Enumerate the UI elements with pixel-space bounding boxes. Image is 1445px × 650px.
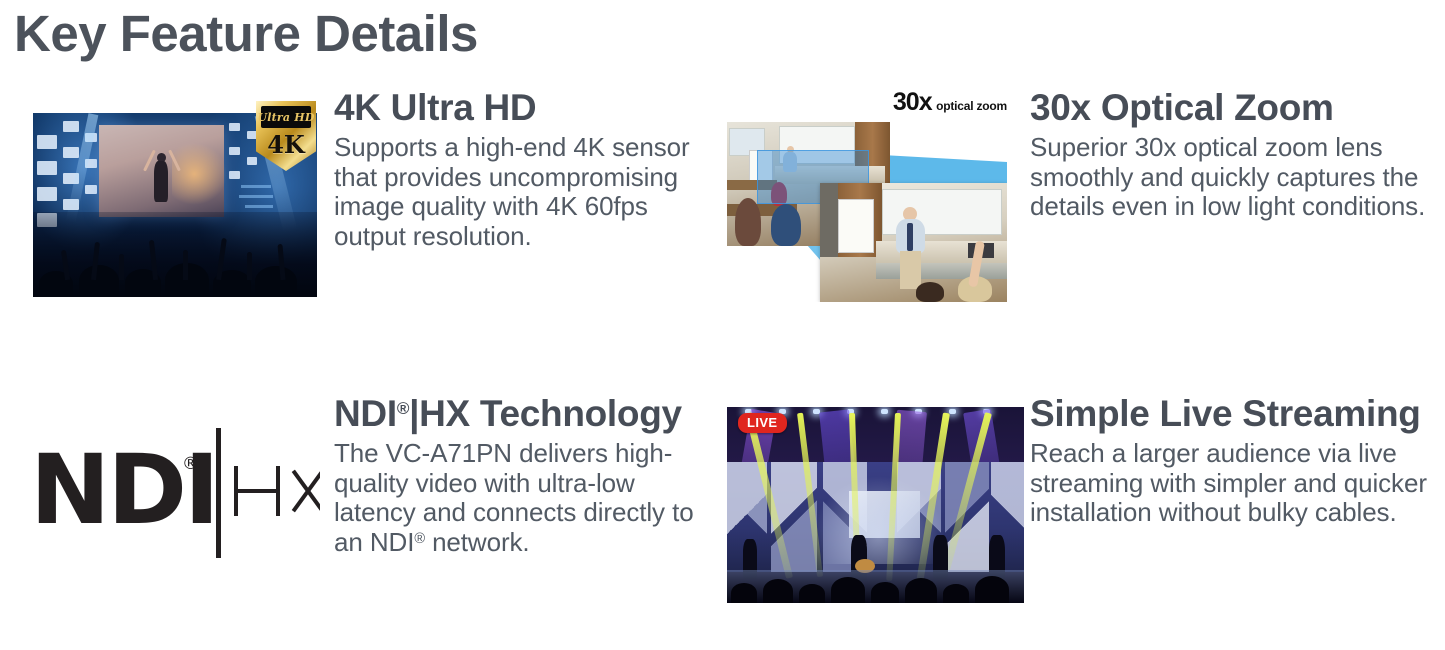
raised-hand	[247, 252, 252, 280]
desk-base	[876, 263, 1007, 279]
feature-body-ndi: The VC-A71PN delivers high-quality video…	[334, 439, 714, 558]
optical-zoom-label-primary: 30x	[893, 88, 932, 116]
feature-text-ndi: NDI®|HX Technology The VC-A71PN delivers…	[334, 394, 714, 558]
led-strip	[241, 185, 271, 188]
audience-head	[943, 584, 969, 603]
raised-hand	[183, 250, 188, 280]
feature-text-4k: 4K Ultra HD Supports a high-end 4K senso…	[334, 88, 704, 252]
audience-head	[731, 583, 757, 603]
performer-figure	[147, 147, 177, 204]
ndi-heading-registered: ®	[397, 399, 409, 418]
raised-hand	[119, 254, 124, 280]
badge-ultra-hd-band: Ultra HD	[261, 106, 311, 128]
truss-panel	[229, 171, 240, 179]
ndi-divider-bar	[216, 428, 221, 558]
classroom-optical-zoom-photo: 30x optical zoom	[727, 88, 1007, 302]
audience-head	[905, 578, 937, 603]
flipchart-detail	[838, 199, 874, 253]
truss-panel	[37, 187, 57, 201]
truss-panel	[37, 135, 57, 149]
teacher-scarf	[907, 223, 913, 251]
feature-body-streaming: Reach a larger audience via live streami…	[1030, 439, 1440, 528]
feature-heading-zoom: 30x Optical Zoom	[1030, 88, 1430, 127]
classroom-zoom-detail	[820, 183, 1007, 302]
hx-glyph	[234, 466, 320, 516]
feature-text-streaming: Simple Live Streaming Reach a larger aud…	[1030, 394, 1440, 528]
ndi-hx-logo: NDI ®	[30, 428, 320, 558]
truss-panel	[63, 121, 79, 132]
page-title: Key Feature Details	[14, 4, 478, 63]
stage-glow	[172, 142, 228, 206]
ndi-registered-mark: ®	[182, 454, 199, 474]
spotlight	[881, 409, 888, 414]
optical-zoom-label: 30x optical zoom	[893, 88, 1007, 117]
student	[735, 198, 761, 246]
feature-body-zoom: Superior 30x optical zoom lens smoothly …	[1030, 133, 1430, 222]
audience-head	[831, 577, 865, 603]
audience-head	[871, 582, 899, 603]
performer-body	[154, 161, 168, 202]
led-strip	[239, 195, 273, 198]
key-feature-details-page: Key Feature Details	[0, 0, 1445, 650]
feature-heading-ndi: NDI®|HX Technology	[334, 394, 714, 433]
badge-ultra-hd-text: Ultra HD	[257, 111, 314, 124]
audience-head	[975, 576, 1009, 603]
led-screen	[99, 125, 224, 217]
audience-head	[799, 584, 825, 603]
live-badge: LIVE	[738, 413, 787, 433]
ndi-heading-post: HX Technology	[419, 393, 682, 434]
feature-heading-4k: 4K Ultra HD	[334, 88, 704, 127]
teacher-legs	[900, 251, 921, 289]
crowd-silhouette	[33, 212, 317, 297]
ndi-body-post: network.	[425, 527, 530, 557]
ndi-heading-pre: NDI	[334, 393, 397, 434]
hx-h-crossbar	[234, 489, 280, 493]
crowd-head	[255, 266, 297, 297]
ultra-hd-4k-badge: Ultra HD 4K	[256, 101, 316, 171]
student-foreground	[916, 282, 944, 302]
crowd-head	[79, 265, 119, 297]
audience-head	[763, 579, 793, 603]
truss-panel	[37, 161, 57, 175]
ndi-heading-divider: |	[409, 393, 419, 434]
truss-panel	[85, 185, 97, 194]
feature-heading-streaming: Simple Live Streaming	[1030, 394, 1440, 433]
led-strip	[245, 205, 273, 208]
truss-panel	[229, 123, 240, 131]
truss-panel	[229, 147, 240, 155]
spotlight	[949, 409, 956, 414]
feature-body-4k: Supports a high-end 4K sensor that provi…	[334, 133, 704, 252]
live-concert-stage-photo: LIVE	[727, 407, 1024, 603]
optical-zoom-label-secondary: optical zoom	[936, 99, 1007, 113]
truss-panel	[63, 147, 79, 158]
feature-text-zoom: 30x Optical Zoom Superior 30x optical zo…	[1030, 88, 1430, 222]
side-wall	[820, 183, 838, 257]
ndi-body-registered: ®	[414, 531, 425, 547]
student	[771, 204, 801, 246]
badge-4k-text: 4K	[256, 130, 316, 159]
